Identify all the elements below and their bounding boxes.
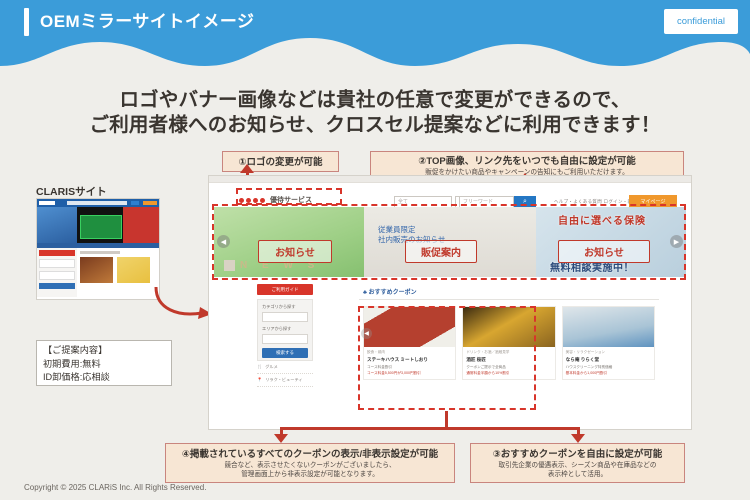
callout-3-title: ③おすすめクーポンを自由に設定が可能 bbox=[471, 448, 684, 461]
filter-search-button[interactable]: 検索する bbox=[262, 348, 308, 358]
sidebar-item-relax[interactable]: 📍 リラク・ビューティ bbox=[257, 374, 313, 387]
footer-copyright: Copyright © 2025 CLARiS Inc. All Rights … bbox=[24, 483, 206, 492]
filter-select-category[interactable] bbox=[262, 312, 308, 322]
callout-2-title: ②TOP画像、リンク先をいつでも自由に設定が可能 bbox=[371, 155, 683, 168]
coupon-desc: ハウスクリーニング特別価格 bbox=[566, 365, 651, 370]
filter-label-area: エリアから探す bbox=[262, 326, 308, 332]
callout-coupon-visibility: ④掲載されているすべてのクーポンの表示/非表示設定が可能 競合など、表示させたく… bbox=[165, 443, 455, 483]
callout-1-arrow bbox=[240, 164, 254, 173]
callout-4-title: ④掲載されているすべてのクーポンの表示/非表示設定が可能 bbox=[166, 448, 454, 461]
sidebar-item-label: リラク・ビューティ bbox=[265, 377, 302, 383]
lead-line-2: ご利用者様へのお知らせ、クロスセル提案などに利用できます！ bbox=[0, 113, 750, 138]
highlight-coupons-area bbox=[358, 306, 536, 410]
pin-icon: 📍 bbox=[257, 377, 262, 383]
claris-site-label: CLARISサイト bbox=[36, 184, 107, 199]
fork-knife-icon: 🍴 bbox=[257, 364, 262, 370]
callout-recommended-coupons: ③おすすめクーポンを自由に設定が可能 取引先企業の優遇表示、シーズン商品や在庫品… bbox=[470, 443, 685, 483]
sidebar-item-gourmet[interactable]: 🍴 グルメ bbox=[257, 361, 313, 374]
overlay-label-promo: 販促案内 bbox=[405, 240, 477, 263]
proposal-box: 【ご提案内容】 初期費用:無料 ID卸価格:応相談 bbox=[36, 340, 172, 386]
callout-4-arrow bbox=[274, 434, 288, 443]
callout-3-sub-2: 表示枠として活用。 bbox=[471, 470, 684, 479]
highlight-logo-area bbox=[236, 188, 342, 205]
callout-3-sub-1: 取引先企業の優遇表示、シーズン商品や在庫品などの bbox=[471, 461, 684, 470]
site-sidebar: ご利用ガイド カテゴリから探す エリアから探す 検索する 🍴 グルメ 📍 リラク… bbox=[257, 284, 313, 387]
bottom-connector-rail bbox=[280, 427, 580, 430]
page-header: OEMミラーサイトイメージ confidential bbox=[0, 0, 750, 78]
guide-button[interactable]: ご利用ガイド bbox=[257, 284, 313, 295]
title-accent-bar bbox=[24, 8, 29, 36]
overlay-label-news-right: お知らせ bbox=[558, 240, 650, 263]
lead-heading: ロゴやバナー画像などは貴社の任意で変更ができるので、 ご利用者様へのお知らせ、ク… bbox=[0, 88, 750, 138]
proposal-line-3: ID卸価格:応相談 bbox=[43, 371, 171, 385]
coupon-card[interactable]: 美容・リラクゼーション なら庵 りらく堂 ハウスクリーニング特別価格 基本料金か… bbox=[562, 306, 655, 380]
header-wave-decoration bbox=[0, 36, 750, 78]
confidential-badge: confidential bbox=[664, 9, 738, 34]
lead-line-1: ロゴやバナー画像などは貴社の任意で変更ができるので、 bbox=[0, 88, 750, 113]
coupons-title-text: おすすめクーポン bbox=[369, 290, 417, 296]
coupons-section-title: ♣ おすすめクーポン bbox=[359, 284, 659, 300]
callout-4-sub-1: 競合など、表示させたくないクーポンがございましたら、 bbox=[166, 461, 454, 470]
filter-select-area[interactable] bbox=[262, 334, 308, 344]
browser-chrome-bar bbox=[209, 176, 691, 183]
proposal-line-1: 【ご提案内容】 bbox=[43, 344, 171, 358]
filter-label-category: カテゴリから探す bbox=[262, 304, 308, 310]
proposal-line-2: 初期費用:無料 bbox=[43, 358, 171, 372]
page-title: OEMミラーサイトイメージ bbox=[40, 8, 255, 36]
claris-site-thumbnail bbox=[36, 198, 160, 300]
callout-3-arrow bbox=[571, 434, 585, 443]
coupon-category: 美容・リラクゼーション bbox=[566, 350, 651, 355]
coupon-image bbox=[563, 307, 654, 347]
sidebar-item-label: グルメ bbox=[265, 364, 278, 370]
search-filter-box: カテゴリから探す エリアから探す 検索する bbox=[257, 299, 313, 361]
callout-4-sub-2: 管理画面上から非表示設定が可能となります。 bbox=[166, 470, 454, 479]
coupon-title: なら庵 りらく堂 bbox=[566, 357, 651, 363]
coupon-price: 基本料金から1,000円割引 bbox=[566, 371, 651, 376]
overlay-label-news-left: お知らせ bbox=[258, 240, 332, 263]
